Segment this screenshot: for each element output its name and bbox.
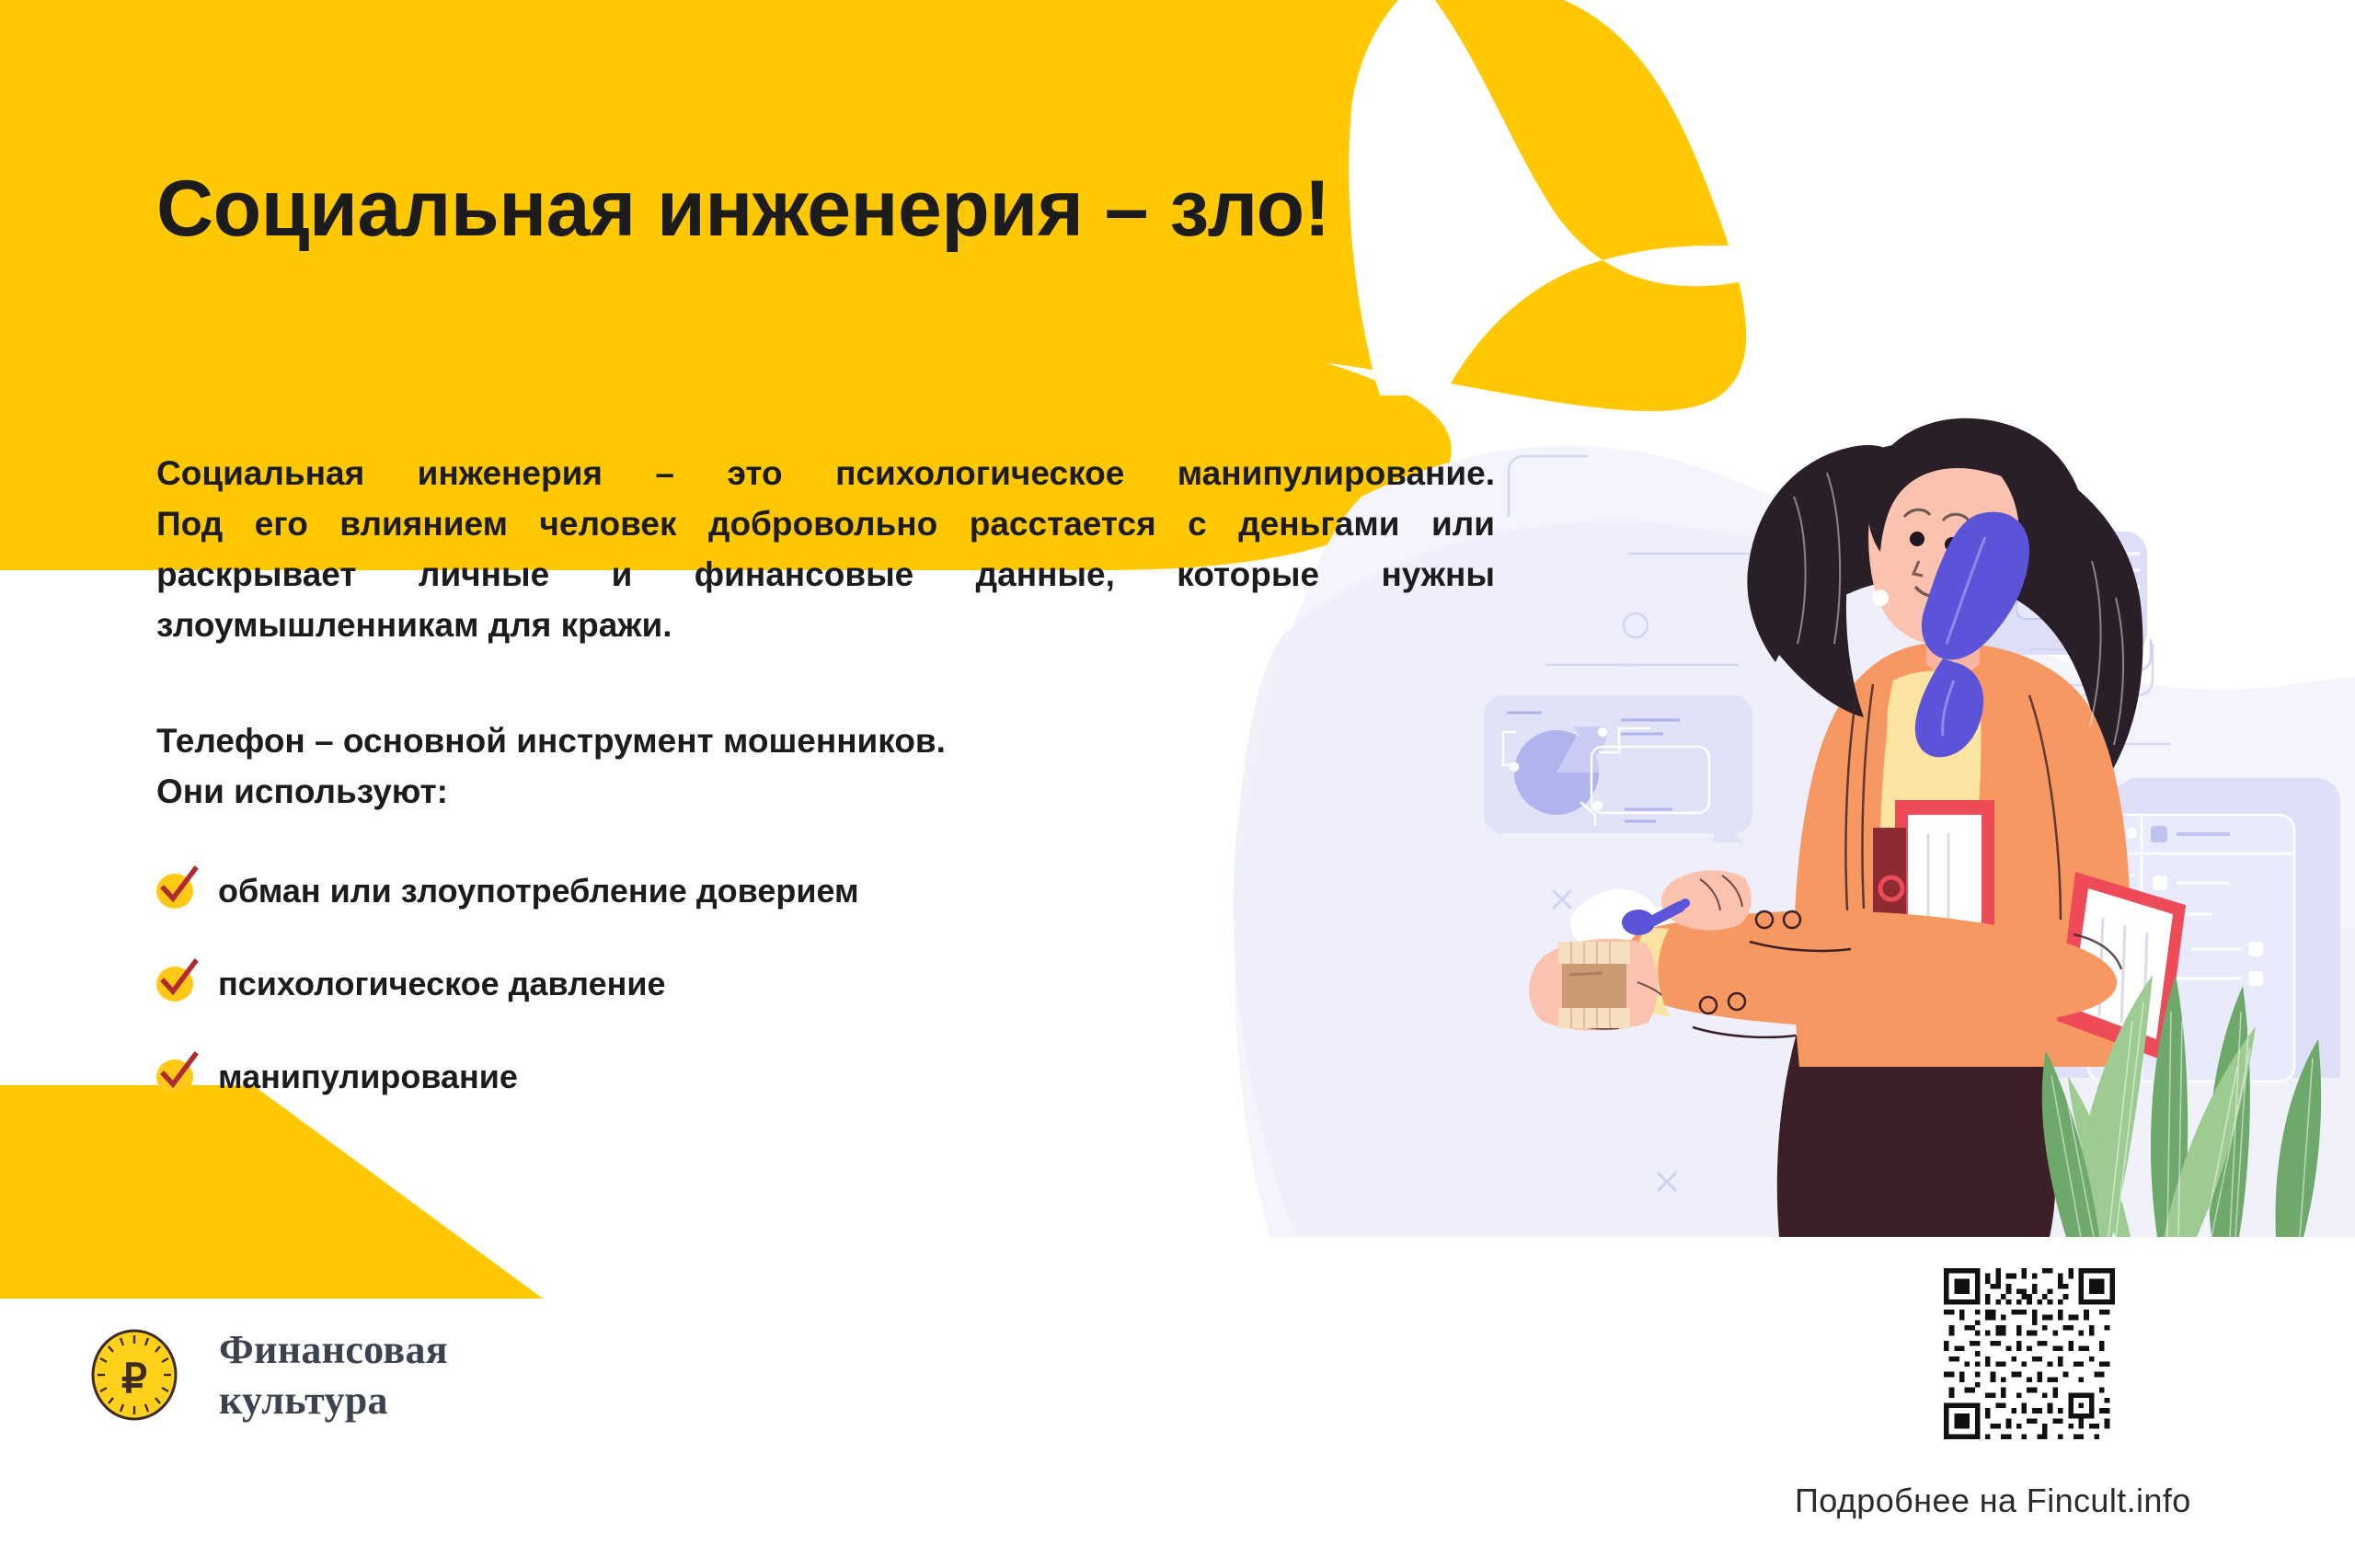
brand-name: Финансовая культура xyxy=(219,1324,448,1425)
intro-line-2: Под его влиянием человек добровольно рас… xyxy=(156,498,1495,549)
page-title: Социальная инженерия – зло! xyxy=(156,164,1330,255)
intro-line-1: Социальная инженерия – это психологическ… xyxy=(156,448,1495,498)
check-circle-icon xyxy=(156,965,195,1003)
lead-line-1: Телефон – основной инструмент мошенников… xyxy=(156,715,946,766)
checklist-label: психологическое давление xyxy=(218,965,666,1003)
intro-line-4: злоумышленникам для кражи. xyxy=(156,600,1495,650)
ruble-symbol: ₽ xyxy=(121,1356,147,1402)
list-item: психологическое давление xyxy=(156,956,859,1013)
checklist-label: манипулирование xyxy=(218,1058,518,1096)
pie-chart-card-icon xyxy=(1484,695,1752,842)
checklist-label: обман или злоупотребление доверием xyxy=(218,872,859,910)
brand-name-line-1: Финансовая xyxy=(219,1324,448,1375)
lead-paragraph: Телефон – основной инструмент мошенников… xyxy=(156,715,946,817)
coffee-cup-icon xyxy=(1558,942,1630,1028)
lead-line-2: Они используют: xyxy=(156,766,946,817)
intro-line-3: раскрывает личные и финансовые данные, к… xyxy=(156,549,1495,600)
more-info-label: Подробнее на Fincult.info xyxy=(1795,1482,2191,1520)
check-circle-icon xyxy=(156,1058,195,1096)
list-item: обман или злоупотребление доверием xyxy=(156,863,859,920)
brand-logo: ₽ Финансовая культура xyxy=(90,1324,448,1425)
intro-paragraph: Социальная инженерия – это психологическ… xyxy=(156,448,1495,650)
check-circle-icon xyxy=(156,872,195,910)
poster-canvas: Социальная инженерия – зло! Социальная и… xyxy=(0,0,2355,1568)
tactics-checklist: обман или злоупотребление доверием психо… xyxy=(156,863,859,1141)
list-item: манипулирование xyxy=(156,1048,859,1105)
earring xyxy=(1872,589,1889,606)
qr-code-icon[interactable] xyxy=(1944,1268,2115,1439)
ruble-coin-icon: ₽ xyxy=(90,1328,178,1422)
brand-name-line-2: культура xyxy=(219,1375,448,1425)
